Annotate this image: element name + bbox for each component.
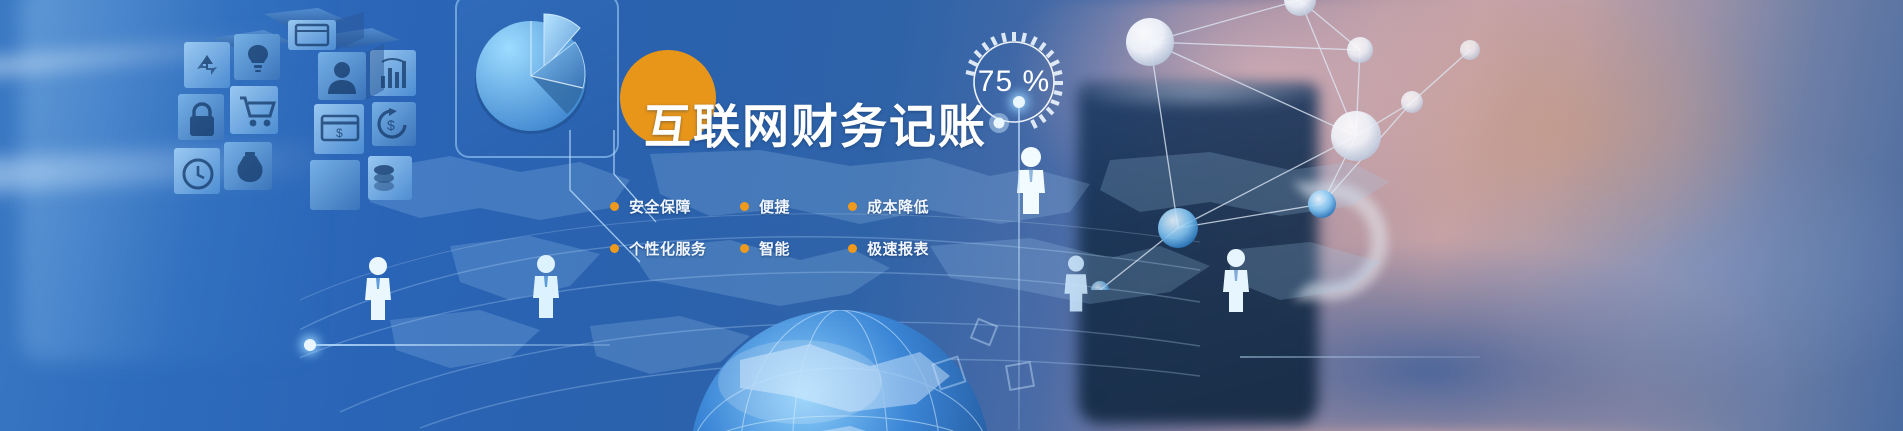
feature-item-rapid-reports[interactable]: 极速报表 (848, 238, 968, 259)
bullet-dot-icon (610, 244, 619, 253)
horizontal-connector-1 (310, 344, 610, 346)
feature-item-intelligent[interactable]: 智能 (740, 238, 848, 259)
feature-label: 智能 (759, 238, 790, 259)
decorative-squares (930, 300, 1060, 420)
icon-cube-grid: $ $ (168, 8, 436, 244)
network-graph (1060, 0, 1480, 290)
gauge-value: 75 % (962, 26, 1066, 138)
person-figure-1 (360, 256, 396, 322)
person-figure-4 (1218, 248, 1254, 314)
feature-row-1: 安全保障 便捷 成本降低 (610, 185, 990, 227)
coins-icon (374, 165, 394, 191)
svg-text:$: $ (336, 126, 343, 140)
person-figure-5 (1060, 254, 1092, 314)
bullet-dot-icon (848, 202, 857, 211)
bullet-dot-icon (740, 244, 749, 253)
feature-item-convenient[interactable]: 便捷 (740, 196, 848, 217)
connector-node-1 (1013, 96, 1025, 108)
person-figure-2 (528, 254, 564, 320)
feature-item-personalized-service[interactable]: 个性化服务 (610, 238, 740, 259)
feature-label: 成本降低 (867, 196, 929, 217)
feature-label: 便捷 (759, 196, 790, 217)
bullet-dot-icon (610, 202, 619, 211)
feature-list: 安全保障 便捷 成本降低 个性化服务 智能 极速报表 (610, 185, 990, 269)
bullet-dot-icon (848, 244, 857, 253)
feature-label: 安全保障 (629, 196, 691, 217)
bullet-dot-icon (740, 202, 749, 211)
feature-label: 个性化服务 (629, 238, 707, 259)
page-title: 互联网财务记账 (644, 103, 987, 150)
horizontal-connector-2 (1240, 356, 1480, 358)
feature-item-safety[interactable]: 安全保障 (610, 196, 740, 217)
feature-row-2: 个性化服务 智能 极速报表 (610, 227, 990, 269)
feature-item-cost-reduction[interactable]: 成本降低 (848, 196, 968, 217)
feature-label: 极速报表 (867, 238, 929, 259)
banner-root: $ $ (0, 0, 1903, 431)
connector-node-2 (304, 339, 316, 351)
